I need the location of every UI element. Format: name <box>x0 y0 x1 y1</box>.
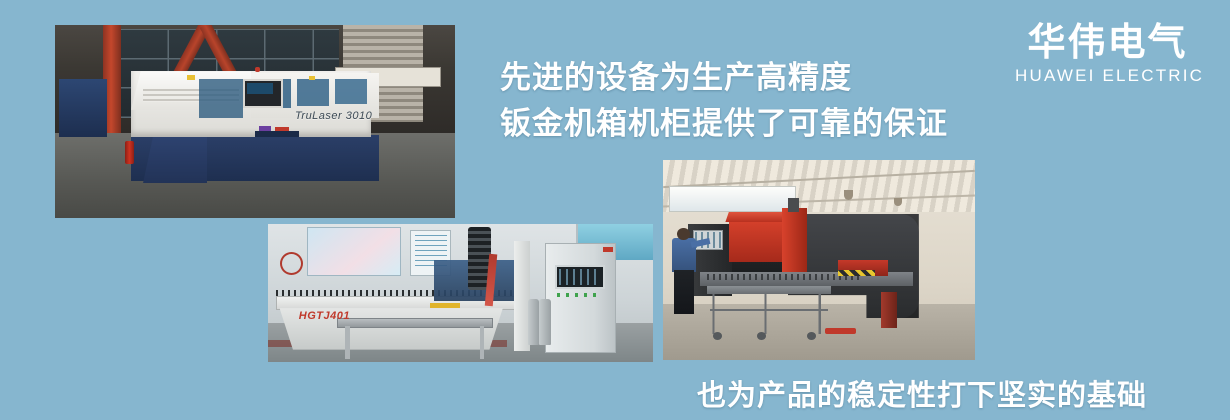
worker-head <box>677 228 689 240</box>
fire-extinguisher <box>125 141 134 164</box>
work-table <box>337 318 493 328</box>
ceiling-lamp-2 <box>894 198 902 206</box>
headline-line-2: 钣金机箱机柜提供了可靠的保证 <box>500 101 948 147</box>
promo-banner: TruLaser 3010 <box>0 0 1230 420</box>
signal-lamp <box>255 67 260 72</box>
warning-sticker-1 <box>187 75 195 80</box>
logo-chinese-name: 华伟电气 <box>1015 22 1200 64</box>
gas-cylinder-1 <box>528 299 540 346</box>
gas-cylinder-2 <box>539 299 551 346</box>
tagline-text: 也为产品的稳定性打下坚实的基础 <box>697 372 1147 414</box>
headline-text: 先进的设备为生产高精度 钣金机箱机柜提供了可靠的保证 <box>500 55 948 147</box>
tool-item-1 <box>259 126 271 131</box>
headline-line-1: 先进的设备为生产高精度 <box>500 55 948 101</box>
machine-model-label: TruLaser 3010 <box>295 110 372 122</box>
viewing-window-2 <box>297 79 329 106</box>
warning-sticker-2 <box>309 76 315 80</box>
table-caster-3 <box>807 332 816 340</box>
punch-column <box>782 208 807 272</box>
warning-label <box>430 303 461 309</box>
cabinet-buttons <box>557 293 599 297</box>
machine-model-label: HGTJ401 <box>299 310 350 322</box>
hydraulic-jack <box>881 292 897 328</box>
photo-cnc-cutter: HGTJ401 <box>268 224 653 362</box>
cnc-scene: HGTJ401 <box>268 224 653 362</box>
table-frame <box>710 294 829 334</box>
logo-english-name: HUAWEI ELECTRIC <box>1015 66 1200 86</box>
table-leg-left <box>345 326 350 359</box>
control-cabinet <box>545 243 616 353</box>
photo-laser-cutter: TruLaser 3010 <box>55 25 455 218</box>
operator-screen <box>247 83 273 95</box>
tool-item-2 <box>275 127 289 131</box>
exhaust-stack <box>788 198 799 212</box>
side-control-box <box>59 79 107 137</box>
floor-cable <box>825 328 856 334</box>
laser-scene: TruLaser 3010 <box>55 25 455 218</box>
punch-scene <box>663 160 975 360</box>
photo-turret-punch <box>663 160 975 360</box>
viewing-window-3 <box>335 79 367 104</box>
table-leg-right <box>480 326 485 359</box>
tool-tray <box>255 131 299 137</box>
access-door-window <box>199 79 243 118</box>
hazard-stripe <box>838 270 875 276</box>
roller-table <box>707 286 832 294</box>
wall-poster-chart <box>307 227 401 276</box>
worker-legs <box>674 270 694 314</box>
pressure-gauge <box>280 252 303 275</box>
cabinet-emergency-stop <box>603 247 613 251</box>
table-caster-2 <box>757 332 766 340</box>
company-logo: 华伟电气 HUAWEI ELECTRIC <box>1015 22 1200 86</box>
clerestory-windows <box>669 186 796 212</box>
cabinet-screen <box>555 265 605 288</box>
